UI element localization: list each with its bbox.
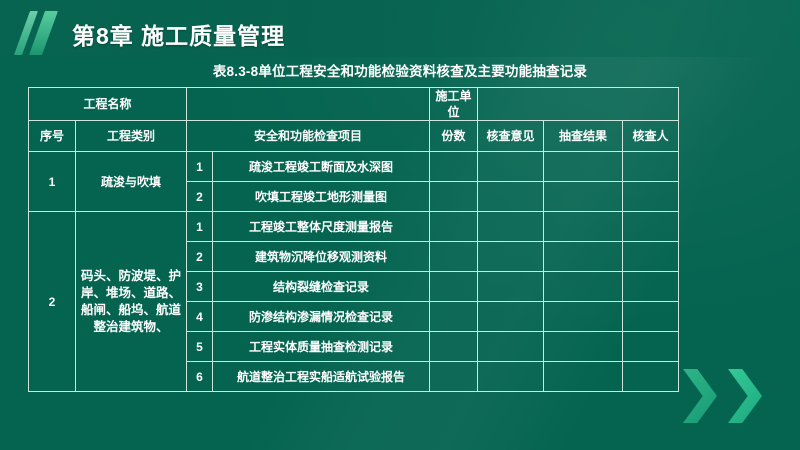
header-category: 工程类别 [76,121,187,152]
cell-result[interactable] [544,332,623,362]
cell-item-no: 2 [187,182,213,212]
cell-item-no: 1 [187,152,213,182]
cell-item-name: 疏浚工程竣工断面及水深图 [213,152,430,182]
cell-checker[interactable] [623,212,679,242]
table-caption: 表8.3-8单位工程安全和功能检验资料核查及主要功能抽查记录 [0,60,800,80]
cell-copies[interactable] [430,242,478,272]
cell-item-name: 吹填工程竣工地形测量图 [213,182,430,212]
cell-checker[interactable] [623,332,679,362]
cell-copies[interactable] [430,152,478,182]
header-spot-check-result: 抽查结果 [544,121,623,152]
cell-category: 疏浚与吹填 [76,152,187,212]
table-header-row-top: 工程名称 施工单位 [29,88,679,121]
header-construction-unit-value[interactable] [478,88,679,121]
cell-checker[interactable] [623,242,679,272]
cell-item-no: 3 [187,272,213,302]
cell-item-name: 防渗结构渗漏情况检查记录 [213,302,430,332]
cell-opinion[interactable] [478,242,544,272]
cell-item-name: 航道整治工程实船适航试验报告 [213,362,430,392]
header-project-name-value[interactable] [187,88,430,121]
cell-result[interactable] [544,182,623,212]
table-row: 1 疏浚与吹填 1 疏浚工程竣工断面及水深图 [29,152,679,182]
cell-result[interactable] [544,152,623,182]
cell-item-no: 2 [187,242,213,272]
chevron-right-icon-1 [683,369,717,423]
header-project-name-label: 工程名称 [29,88,187,121]
slide-canvas: 第8章 施工质量管理 表8.3-8单位工程安全和功能检验资料核查及主要功能抽查记… [0,0,800,450]
cell-result[interactable] [544,362,623,392]
cell-opinion[interactable] [478,212,544,242]
cell-copies[interactable] [430,212,478,242]
cell-result[interactable] [544,302,623,332]
cell-copies[interactable] [430,332,478,362]
cell-opinion[interactable] [478,182,544,212]
cell-item-no: 4 [187,302,213,332]
inspection-record-table: 工程名称 施工单位 序号 工程类别 安全和功能检查项目 份数 核查意见 抽查结果… [28,87,679,392]
cell-item-no: 1 [187,212,213,242]
header-seq: 序号 [29,121,76,152]
cell-opinion[interactable] [478,302,544,332]
data-table-wrapper: 工程名称 施工单位 序号 工程类别 安全和功能检查项目 份数 核查意见 抽查结果… [28,87,668,392]
header-checker: 核查人 [623,121,679,152]
chevron-right-icon-2 [728,369,762,423]
header-construction-unit-label: 施工单位 [430,88,478,121]
header-copies: 份数 [430,121,478,152]
cell-opinion[interactable] [478,362,544,392]
cell-result[interactable] [544,212,623,242]
cell-item-name: 工程竣工整体尺度测量报告 [213,212,430,242]
cell-seq: 2 [29,212,76,392]
cell-item-name: 建筑物沉降位移观测资料 [213,242,430,272]
cell-opinion[interactable] [478,152,544,182]
cell-checker[interactable] [623,362,679,392]
cell-checker[interactable] [623,152,679,182]
cell-checker[interactable] [623,182,679,212]
header-check-opinion: 核查意见 [478,121,544,152]
cell-copies[interactable] [430,302,478,332]
page-title: 第8章 施工质量管理 [72,17,285,51]
cell-opinion[interactable] [478,332,544,362]
cell-copies[interactable] [430,272,478,302]
cell-checker[interactable] [623,272,679,302]
cell-copies[interactable] [430,182,478,212]
cell-item-no: 5 [187,332,213,362]
cell-checker[interactable] [623,302,679,332]
table-row: 2 码头、防波堤、护岸、堆场、道路、船闸、船坞、航道整治建筑物、 1 工程竣工整… [29,212,679,242]
cell-seq: 1 [29,152,76,212]
header-inspection-item: 安全和功能检查项目 [187,121,430,152]
cell-item-no: 6 [187,362,213,392]
table-header-row-sub: 序号 工程类别 安全和功能检查项目 份数 核查意见 抽查结果 核查人 [29,121,679,152]
cell-item-name: 工程实体质量抽查检测记录 [213,332,430,362]
cell-result[interactable] [544,242,623,272]
cell-item-name: 结构裂缝检查记录 [213,272,430,302]
cell-result[interactable] [544,272,623,302]
cell-opinion[interactable] [478,272,544,302]
cell-copies[interactable] [430,362,478,392]
cell-category: 码头、防波堤、护岸、堆场、道路、船闸、船坞、航道整治建筑物、 [76,212,187,392]
